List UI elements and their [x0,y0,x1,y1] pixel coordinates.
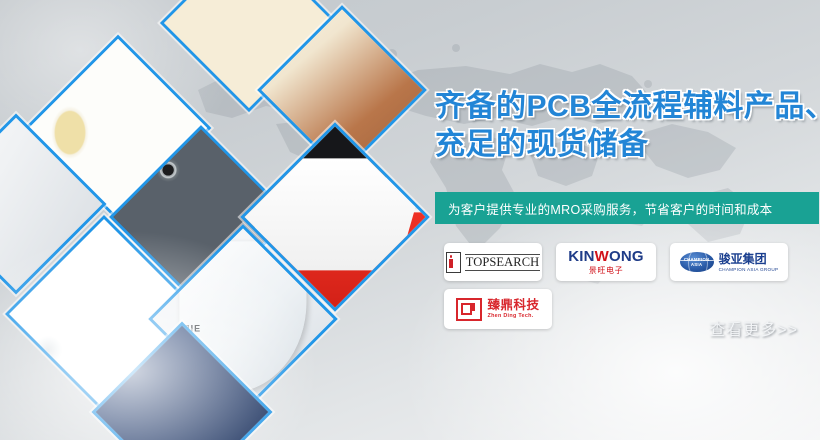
headline: 齐备的PCB全流程辅料产品、 充足的现货储备 [435,88,820,164]
banner-content: 齐备的PCB全流程辅料产品、 充足的现货储备 为客户提供专业的MRO采购服务，节… [430,0,820,440]
globe-icon: CHAMPION ASIA [680,252,714,272]
partner-logo-row-1: TOPSEARCH KINWONG 景旺电子 CHAMPION ASIA 骏 [444,243,820,281]
headline-line-1: 齐备的PCB全流程辅料产品、 [435,88,820,126]
champion-english-name: CHAMPION ASIA GROUP [719,267,779,272]
promo-banner: JIE 齐备的PCB全流程辅料产品、 充足的现货储备 为客户提供专业的MRO采购… [0,0,820,440]
partner-logo-kinwong[interactable]: KINWONG 景旺电子 [556,243,656,281]
globe-icon-label: CHAMPION ASIA [680,257,714,267]
headline-line-2: 充足的现货储备 [435,126,820,164]
champion-text-block: 骏亚集团 CHAMPION ASIA GROUP [719,253,779,272]
kinwong-wordmark: KINWONG [568,249,644,264]
zhending-text-block: 臻鼎科技 Zhen Ding Tech. [487,299,539,320]
zhending-english-name: Zhen Ding Tech. [487,313,539,319]
kinwong-text-a: KIN [568,248,594,265]
partner-logo-topsearch[interactable]: TOPSEARCH [444,243,542,281]
subtitle-text: 为客户提供专业的MRO采购服务，节省客户的时间和成本 [435,199,772,218]
zhending-lockup: 臻鼎科技 Zhen Ding Tech. [456,298,539,321]
kinwong-lockup: KINWONG 景旺电子 [568,249,644,275]
view-more-link[interactable]: 查看更多>> [709,316,798,340]
kinwong-text-w: W [595,248,609,265]
champion-chinese-name: 骏亚集团 [719,253,779,265]
champion-lockup: CHAMPION ASIA 骏亚集团 CHAMPION ASIA GROUP [680,252,779,272]
zhending-chinese-name: 臻鼎科技 [487,299,539,312]
topsearch-wordmark: TOPSEARCH [465,254,541,271]
topsearch-mark-icon [446,252,461,273]
product-diamond-grid: JIE [0,0,430,440]
kinwong-text-c: ONG [609,248,644,265]
subtitle-bar: 为客户提供专业的MRO采购服务，节省客户的时间和成本 [435,192,819,224]
partner-logo-champion-asia[interactable]: CHAMPION ASIA 骏亚集团 CHAMPION ASIA GROUP [670,243,788,281]
kinwong-chinese-name: 景旺电子 [568,267,644,275]
partner-logo-zhen-ding[interactable]: 臻鼎科技 Zhen Ding Tech. [444,289,552,329]
zhending-mark-icon [456,298,482,321]
